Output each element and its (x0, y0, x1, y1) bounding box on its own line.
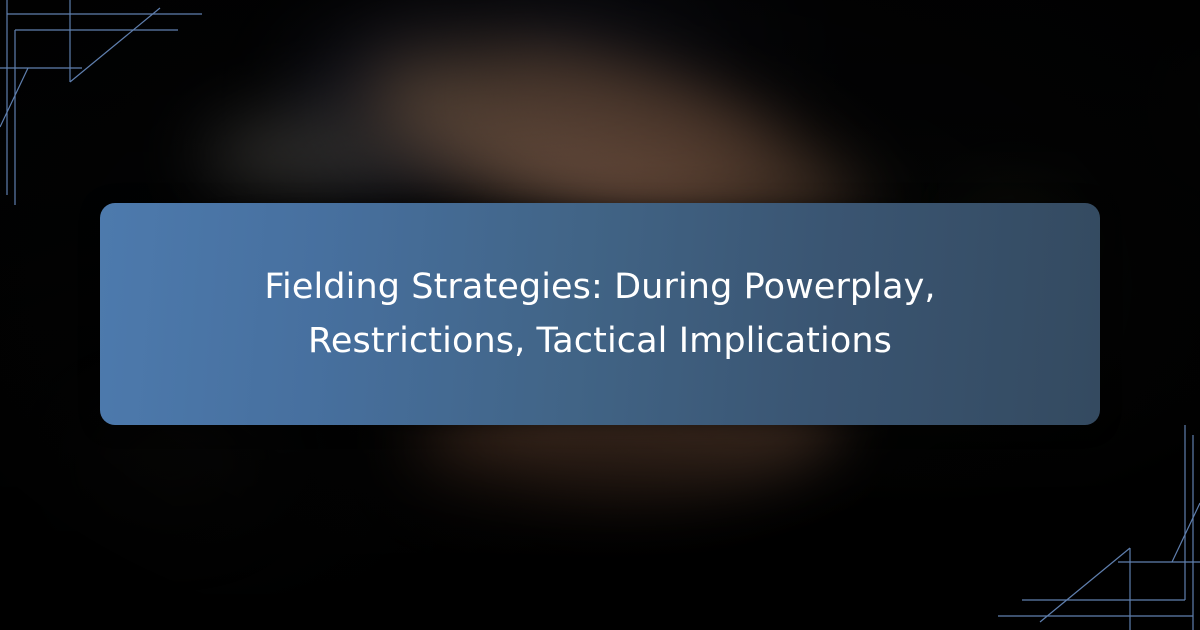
banner-title: Fielding Strategies: During Powerplay, R… (170, 260, 1030, 369)
banner-canvas: Fielding Strategies: During Powerplay, R… (0, 0, 1200, 630)
title-banner: Fielding Strategies: During Powerplay, R… (100, 203, 1100, 425)
